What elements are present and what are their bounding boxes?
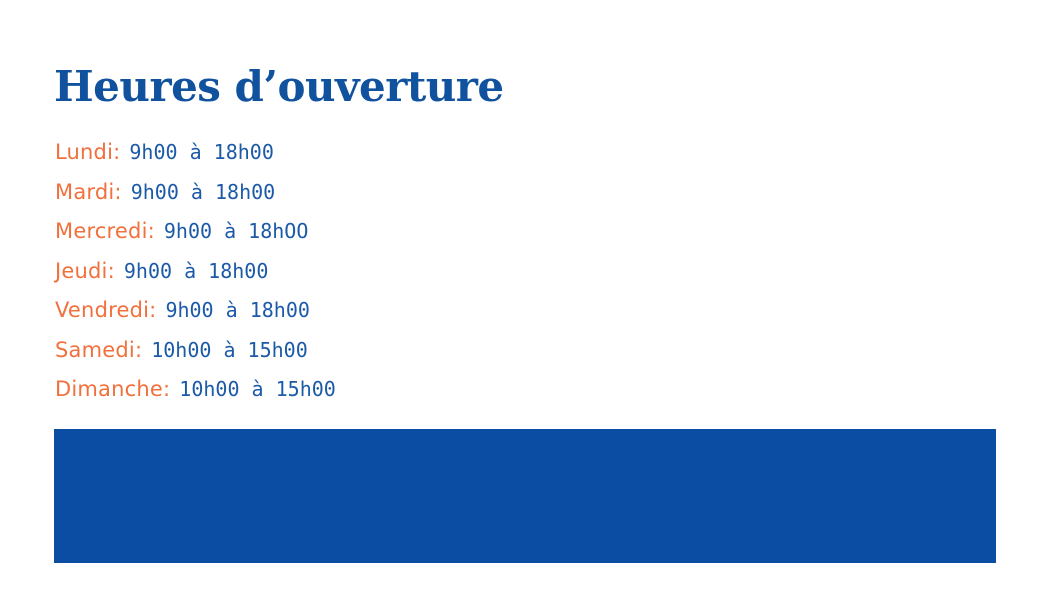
- time-value: 9h00 à 18h00: [122, 180, 276, 204]
- day-label: Mardi:: [55, 180, 122, 204]
- list-item: Samedi:10h00 à 15h00: [55, 331, 755, 371]
- time-value: 9h00 à 18h00: [120, 140, 274, 164]
- list-item: Vendredi:9h00 à 18h00: [55, 291, 755, 331]
- day-label: Lundi:: [55, 140, 120, 164]
- time-value: 9h00 à 18hOO: [155, 219, 309, 243]
- slide-canvas: Heures d’ouverture Lundi:9h00 à 18h00 Ma…: [0, 0, 1050, 600]
- list-item: Dimanche:10h00 à 15h00: [55, 370, 755, 410]
- time-value: 9h00 à 18h00: [156, 298, 310, 322]
- bottom-blue-band: [54, 429, 996, 563]
- opening-hours-list: Lundi:9h00 à 18h00 Mardi:9h00 à 18h00 Me…: [55, 133, 755, 410]
- day-label: Mercredi:: [55, 219, 155, 243]
- list-item: Lundi:9h00 à 18h00: [55, 133, 755, 173]
- day-label: Samedi:: [55, 338, 142, 362]
- list-item: Mercredi:9h00 à 18hOO: [55, 212, 755, 252]
- list-item: Mardi:9h00 à 18h00: [55, 173, 755, 213]
- day-label: Vendredi:: [55, 298, 156, 322]
- day-label: Dimanche:: [55, 377, 170, 401]
- time-value: 9h00 à 18h00: [115, 259, 269, 283]
- time-value: 10h00 à 15h00: [142, 338, 308, 362]
- time-value: 10h00 à 15h00: [170, 377, 336, 401]
- page-title: Heures d’ouverture: [54, 62, 504, 112]
- day-label: Jeudi:: [55, 259, 115, 283]
- list-item: Jeudi:9h00 à 18h00: [55, 252, 755, 292]
